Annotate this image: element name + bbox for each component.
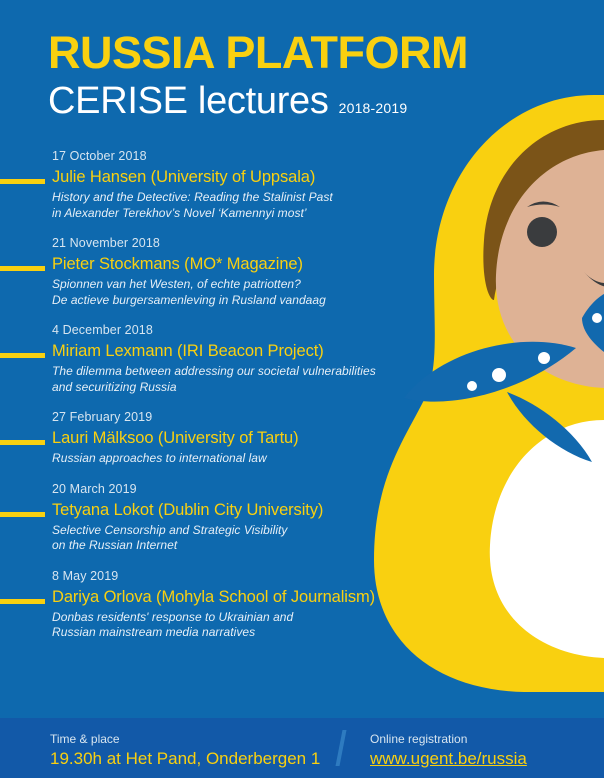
lecture-topic-line: Selective Censorship and Strategic Visib…	[52, 523, 470, 539]
list-item: 21 November 2018 Pieter Stockmans (MO* M…	[0, 235, 470, 308]
matryoshka-mouth-icon	[584, 272, 604, 287]
lecture-topic: Selective Censorship and Strategic Visib…	[52, 523, 470, 554]
lecture-topic-line: and securitizing Russia	[52, 380, 470, 396]
poster-footer: Time & place 19.30h at Het Pand, Onderbe…	[0, 718, 604, 778]
lecture-date: 21 November 2018	[52, 235, 470, 251]
matryoshka-eye-icon	[527, 217, 557, 247]
lecture-date: 27 February 2019	[52, 409, 470, 425]
lecture-topic: Donbas residents' response to Ukrainian …	[52, 610, 470, 641]
lecture-speaker: Miriam Lexmann (IRI Beacon Project)	[52, 341, 470, 362]
lecture-topic-line: Russian mainstream media narratives	[52, 625, 470, 641]
matryoshka-face-icon	[496, 150, 604, 388]
lecture-speaker: Dariya Orlova (Mohyla School of Journali…	[52, 587, 470, 608]
poster-canvas: RUSSIA PLATFORM CERISE lectures 2018-201…	[0, 0, 604, 778]
lecture-date: 17 October 2018	[52, 148, 470, 164]
lecture-speaker: Tetyana Lokot (Dublin City University)	[52, 500, 470, 521]
dash-marker-icon	[0, 512, 45, 517]
lecture-list: 17 October 2018 Julie Hansen (University…	[0, 148, 470, 655]
time-place-label: Time & place	[50, 732, 320, 747]
page-subtitle: CERISE lectures	[48, 80, 329, 122]
academic-year-badge: 2018-2019	[339, 100, 408, 116]
lecture-topic-line: History and the Detective: Reading the S…	[52, 190, 470, 206]
footer-inner: Time & place 19.30h at Het Pand, Onderbe…	[0, 718, 604, 778]
matryoshka-apron-icon	[490, 420, 604, 658]
registration-block: Online registration www.ugent.be/russia	[370, 732, 527, 770]
subtitle-row: CERISE lectures 2018-2019	[48, 80, 468, 122]
lecture-topic: Russian approaches to international law	[52, 451, 470, 467]
lecture-topic: Spionnen van het Westen, of echte patrio…	[52, 277, 470, 308]
lecture-date: 20 March 2019	[52, 481, 470, 497]
lecture-topic-line: Donbas residents' response to Ukrainian …	[52, 610, 470, 626]
lecture-topic: The dilemma between addressing our socie…	[52, 364, 470, 395]
time-place-block: Time & place 19.30h at Het Pand, Onderbe…	[50, 732, 320, 770]
lecture-topic-line: Russian approaches to international law	[52, 451, 470, 467]
lecture-topic-line: The dilemma between addressing our socie…	[52, 364, 470, 380]
dash-marker-icon	[0, 599, 45, 604]
registration-link[interactable]: www.ugent.be/russia	[370, 749, 527, 768]
lecture-date: 8 May 2019	[52, 568, 470, 584]
matryoshka-dots-icon	[467, 313, 602, 391]
matryoshka-eyebrow-icon	[527, 202, 560, 208]
lecture-topic-line: on the Russian Internet	[52, 538, 470, 554]
dash-marker-icon	[0, 353, 45, 358]
lecture-date: 4 December 2018	[52, 322, 470, 338]
list-item: 4 December 2018 Miriam Lexmann (IRI Beac…	[0, 322, 470, 395]
time-place-value: 19.30h at Het Pand, Onderbergen 1	[50, 748, 320, 770]
list-item: 8 May 2019 Dariya Orlova (Mohyla School …	[0, 568, 470, 641]
dash-marker-icon	[0, 266, 45, 271]
lecture-topic-line: in Alexander Terekhov’s Novel ‘Kamennyi …	[52, 206, 470, 222]
list-item: 27 February 2019 Lauri Mälksoo (Universi…	[0, 409, 470, 467]
page-title: RUSSIA PLATFORM	[48, 28, 468, 78]
lecture-topic-line: Spionnen van het Westen, of echte patrio…	[52, 277, 470, 293]
list-item: 17 October 2018 Julie Hansen (University…	[0, 148, 470, 221]
dash-marker-icon	[0, 179, 45, 184]
poster-header: RUSSIA PLATFORM CERISE lectures 2018-201…	[48, 28, 468, 122]
lecture-speaker: Pieter Stockmans (MO* Magazine)	[52, 254, 470, 275]
registration-label: Online registration	[370, 732, 527, 747]
matryoshka-hair-icon	[483, 120, 604, 300]
list-item: 20 March 2019 Tetyana Lokot (Dublin City…	[0, 481, 470, 554]
lecture-topic: History and the Detective: Reading the S…	[52, 190, 470, 221]
lecture-speaker: Julie Hansen (University of Uppsala)	[52, 167, 470, 188]
lecture-speaker: Lauri Mälksoo (University of Tartu)	[52, 428, 470, 449]
slash-divider-icon	[336, 730, 347, 766]
dash-marker-icon	[0, 440, 45, 445]
lecture-topic-line: De actieve burgersamenleving in Rusland …	[52, 293, 470, 309]
